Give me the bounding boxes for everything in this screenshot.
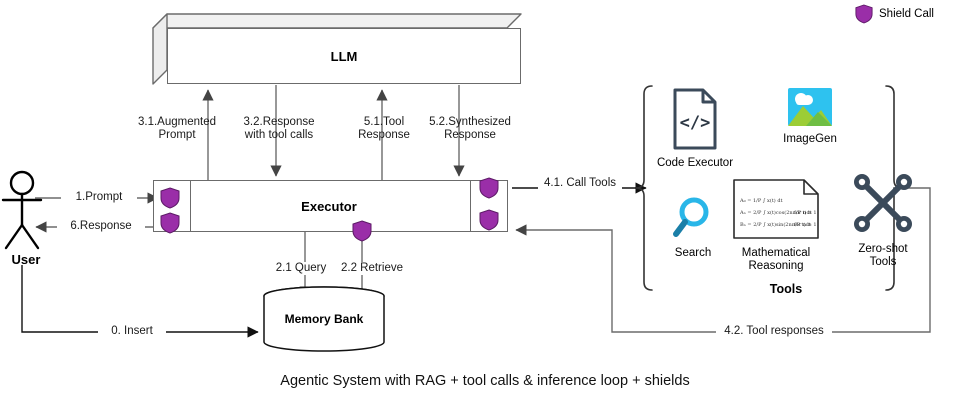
llm-node[interactable]: LLM [153, 14, 521, 84]
magnifier-icon [672, 196, 714, 240]
legend: Shield Call [855, 4, 934, 24]
shield-icon-tool-response[interactable] [479, 209, 499, 231]
image-picture-icon [788, 88, 832, 126]
tools-group-label: Tools [716, 282, 856, 296]
shield-icon-memory[interactable] [352, 220, 372, 242]
diagram-canvas: LLM Executor Memory Bank User 3.1.Augmen… [0, 0, 970, 411]
diagram-caption: Agentic System with RAG + tool calls & i… [0, 373, 970, 389]
tool-search[interactable]: Search [660, 196, 726, 260]
edge-label-call-tools: 4.1. Call Tools [538, 177, 622, 190]
legend-label: Shield Call [879, 8, 934, 20]
shield-icon-output[interactable] [160, 212, 180, 234]
shield-icon-input[interactable] [160, 187, 180, 209]
executor-node[interactable]: Executor [153, 180, 508, 232]
svg-text:A₀ = 1/P ∫ x(t) dt: A₀ = 1/P ∫ x(t) dt [739, 197, 783, 204]
tool-code-executor[interactable]: </> Code Executor [650, 88, 740, 170]
edge-label-tool-responses: 4.2. Tool responses [716, 325, 832, 338]
formula-document-icon: A₀ = 1/P ∫ x(t) dt Aₙ = 2/P ∫ x(t)cos(2n… [732, 178, 820, 240]
tool-label-zero-shot-tools: Zero-shot Tools [835, 243, 931, 269]
svg-text:</>: </> [680, 113, 711, 133]
user-label: User [0, 252, 52, 267]
tool-imagegen[interactable]: ImageGen [760, 88, 860, 146]
memory-bank-node[interactable]: Memory Bank [264, 288, 384, 350]
svg-text:for n ≥ 1: for n ≥ 1 [794, 222, 817, 228]
code-document-icon: </> [671, 88, 719, 150]
tool-label-code-executor: Code Executor [650, 157, 740, 170]
crossed-wrenches-icon [850, 170, 916, 236]
tool-label-imagegen: ImageGen [760, 133, 860, 146]
edge-label-response: 6.Response [57, 220, 145, 233]
user-stick-figure [3, 172, 41, 248]
edge-label-insert: 0. Insert [98, 325, 166, 338]
memory-bank-label: Memory Bank [264, 296, 384, 342]
executor-right-divider [470, 181, 471, 231]
llm-label: LLM [167, 28, 521, 84]
edge-label-retrieve: 2.2 Retrieve [334, 262, 410, 275]
edge-label-query: 2.1 Query [268, 262, 334, 275]
executor-label: Executor [190, 181, 468, 231]
shield-icon-legend [855, 4, 873, 24]
edge-label-tool-response: 5.1.Tool Response [348, 116, 420, 142]
edge-label-response-with-tool-calls: 3.2.Response with tool calls [233, 116, 325, 142]
tool-label-mathematical-reasoning: Mathematical Reasoning [716, 247, 836, 273]
tool-label-search: Search [660, 247, 726, 260]
edge-label-augmented-prompt: 3.1.Augmented Prompt [138, 116, 216, 142]
edge-label-synthesized-response: 5.2.Synthesized Response [424, 116, 516, 142]
tool-zero-shot-tools[interactable]: Zero-shot Tools [835, 170, 931, 269]
shield-icon-tool-call[interactable] [479, 177, 499, 199]
edge-label-prompt: 1.Prompt [61, 191, 137, 204]
svg-text:for n ≥ 1: for n ≥ 1 [794, 210, 817, 216]
tool-mathematical-reasoning[interactable]: A₀ = 1/P ∫ x(t) dt Aₙ = 2/P ∫ x(t)cos(2n… [716, 178, 836, 273]
